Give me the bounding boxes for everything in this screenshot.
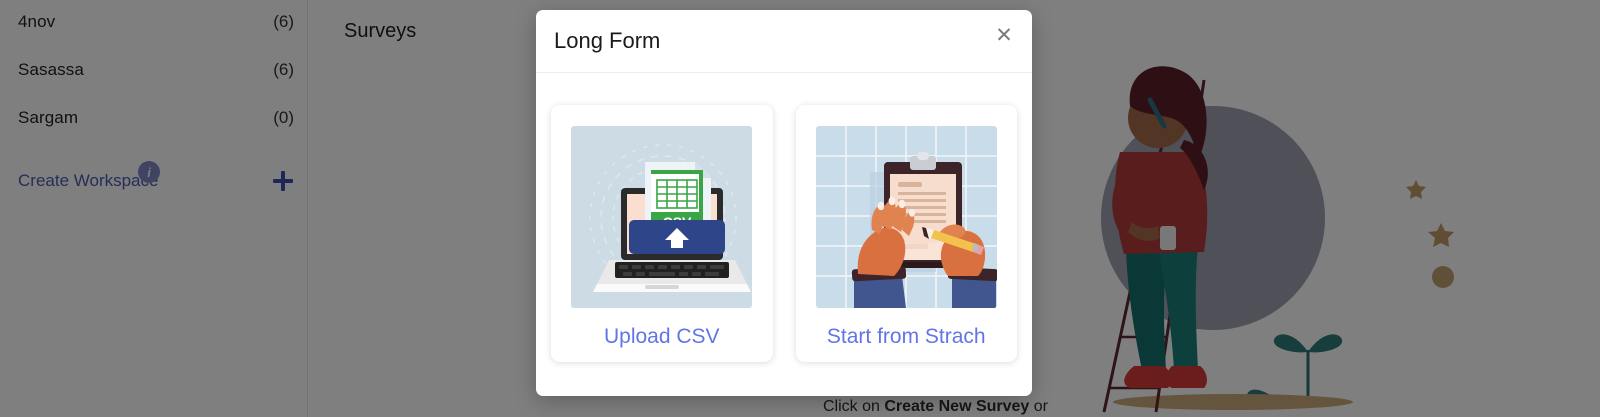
- close-icon[interactable]: ✕: [992, 24, 1016, 48]
- start-from-scratch-card[interactable]: Start from Strach: [796, 105, 1018, 362]
- laptop-csv-upload-illustration: CSV: [571, 126, 752, 308]
- long-form-modal: Long Form ✕: [536, 10, 1032, 396]
- modal-title: Long Form: [554, 28, 660, 54]
- upload-csv-card[interactable]: CSV Upload CSV: [551, 105, 773, 362]
- modal-body: CSV Upload CSV: [536, 73, 1032, 362]
- screen: 4nov (6) Sasassa (6) Sargam (0) Create W…: [0, 0, 1600, 417]
- hands-writing-clipboard-illustration: [816, 126, 997, 308]
- modal-header: Long Form ✕: [536, 10, 1032, 73]
- start-from-scratch-label: Start from Strach: [827, 325, 986, 349]
- upload-csv-label: Upload CSV: [604, 325, 720, 349]
